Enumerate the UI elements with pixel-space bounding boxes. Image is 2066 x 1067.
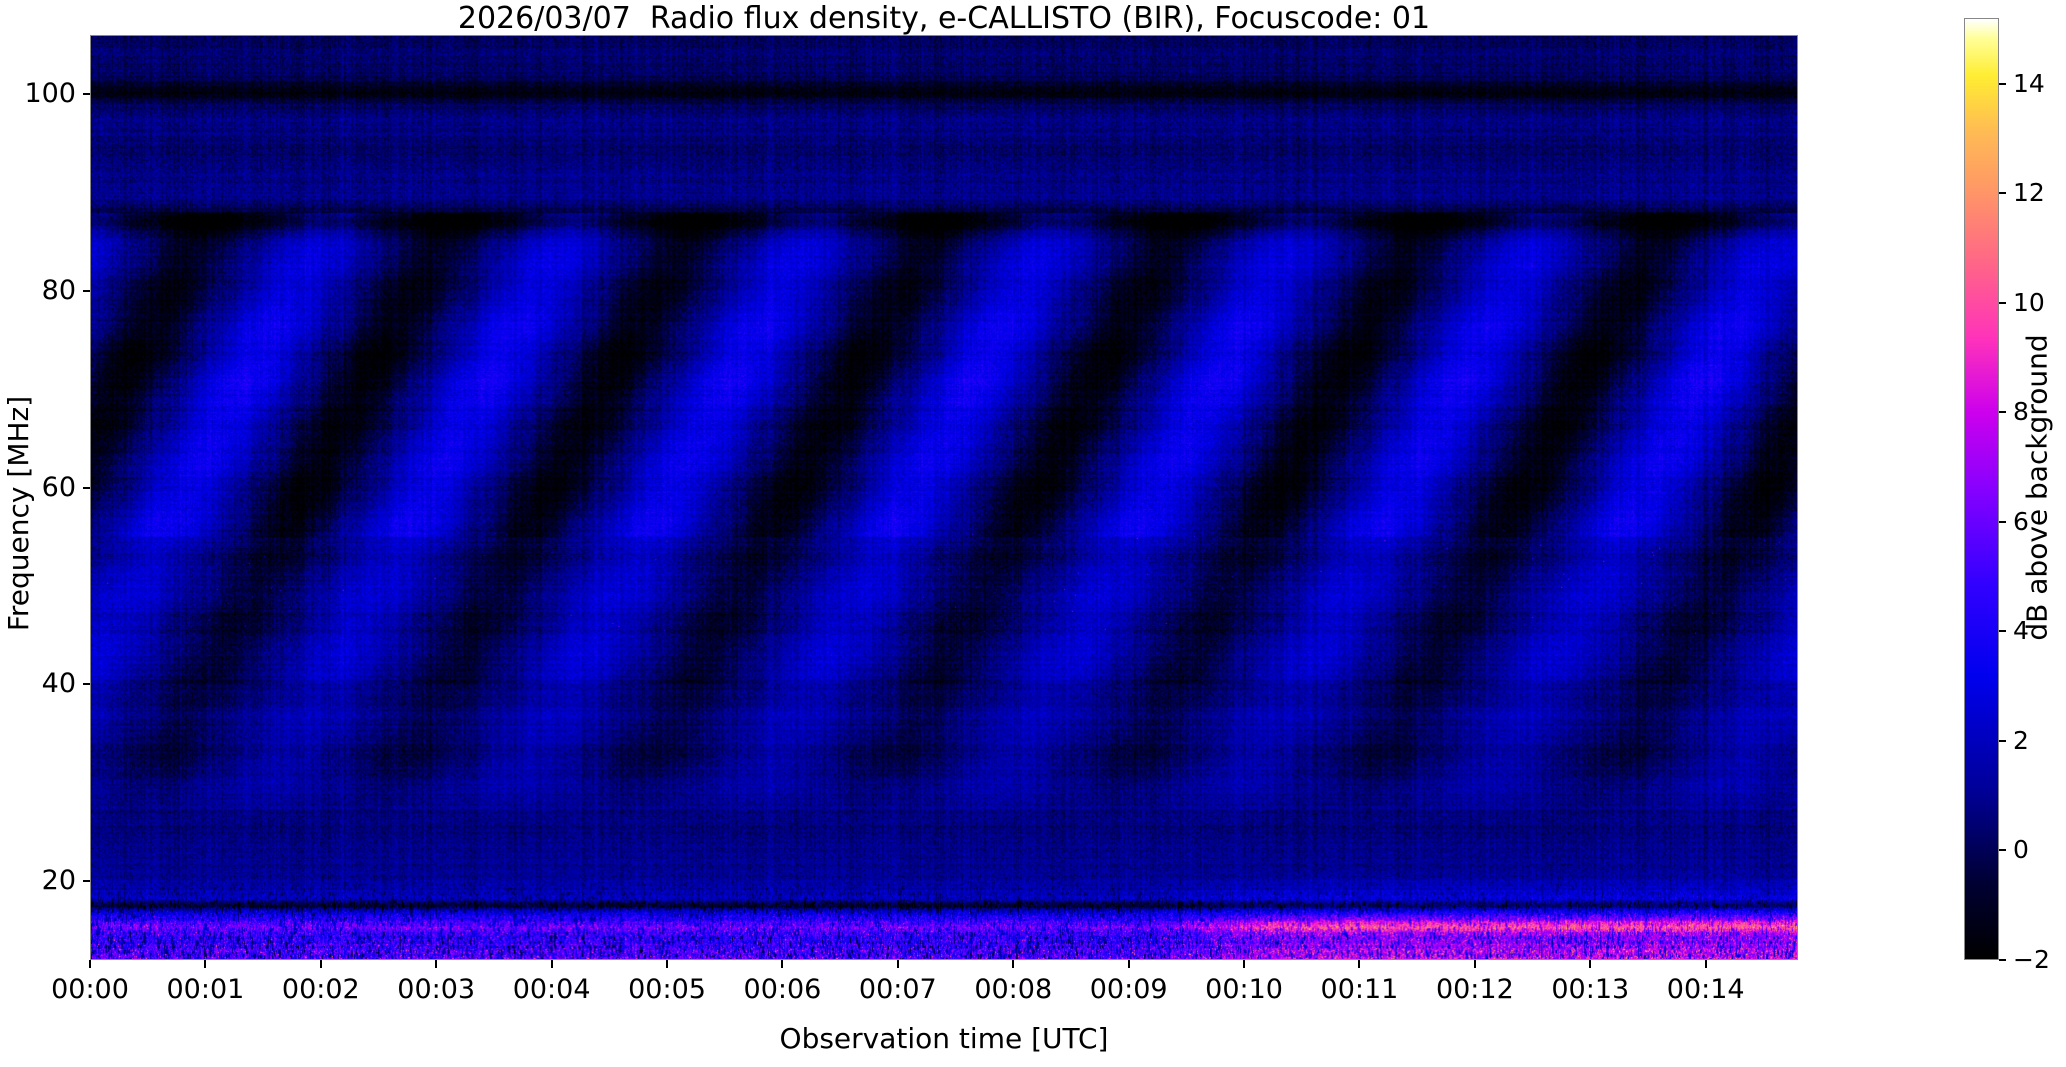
x-tick-mark [781,960,783,968]
x-tick-mark [1705,960,1707,968]
x-tick-label: 00:14 [1626,976,1786,1003]
figure-title: 2026/03/07 Radio flux density, e-CALLIST… [90,2,1798,36]
colorbar-tick-mark [1999,959,2006,961]
y-axis-label: Frequency [MHz] [2,51,35,976]
spectrogram-figure: 2026/03/07 Radio flux density, e-CALLIST… [0,0,2066,1067]
y-tick-mark [83,683,90,685]
x-tick-mark [551,960,553,968]
colorbar-tick-mark [1999,411,2006,413]
x-tick-label: 00:04 [472,976,632,1003]
x-tick-mark [89,960,91,968]
colorbar-label: dB above background [2021,17,2054,959]
x-tick-mark [897,960,899,968]
x-tick-mark [1128,960,1130,968]
x-tick-label: 00:09 [1049,976,1209,1003]
colorbar-tick-mark [1999,849,2006,851]
x-tick-label: 00:11 [1279,976,1439,1003]
y-tick-mark [83,487,90,489]
x-tick-label: 00:07 [818,976,978,1003]
x-axis-label: Observation time [UTC] [90,1022,1798,1055]
colorbar-gradient [1965,19,1998,959]
x-tick-label: 00:05 [587,976,747,1003]
spectrogram-axes[interactable] [90,35,1798,960]
x-tick-mark [320,960,322,968]
x-tick-mark [1012,960,1014,968]
x-tick-mark [435,960,437,968]
x-tick-mark [1358,960,1360,968]
x-tick-label: 00:08 [933,976,1093,1003]
colorbar-tick-mark [1999,630,2006,632]
x-tick-label: 00:10 [1164,976,1324,1003]
x-tick-mark [204,960,206,968]
y-tick-mark [83,93,90,95]
y-tick-mark [83,290,90,292]
spectrogram-image[interactable] [91,36,1797,959]
y-tick-mark [83,880,90,882]
colorbar-tick-mark [1999,521,2006,523]
x-tick-label: 00:06 [702,976,862,1003]
x-tick-mark [1243,960,1245,968]
x-tick-label: 00:02 [241,976,401,1003]
colorbar-tick-mark [1999,83,2006,85]
x-tick-label: 00:03 [356,976,516,1003]
x-tick-mark [666,960,668,968]
x-tick-label: 00:12 [1395,976,1555,1003]
x-tick-label: 00:13 [1510,976,1670,1003]
x-tick-mark [1589,960,1591,968]
x-tick-label: 00:00 [10,976,170,1003]
colorbar-tick-mark [1999,192,2006,194]
x-tick-mark [1474,960,1476,968]
colorbar[interactable] [1964,18,1999,960]
x-tick-label: 00:01 [125,976,285,1003]
colorbar-tick-mark [1999,740,2006,742]
colorbar-tick-mark [1999,302,2006,304]
